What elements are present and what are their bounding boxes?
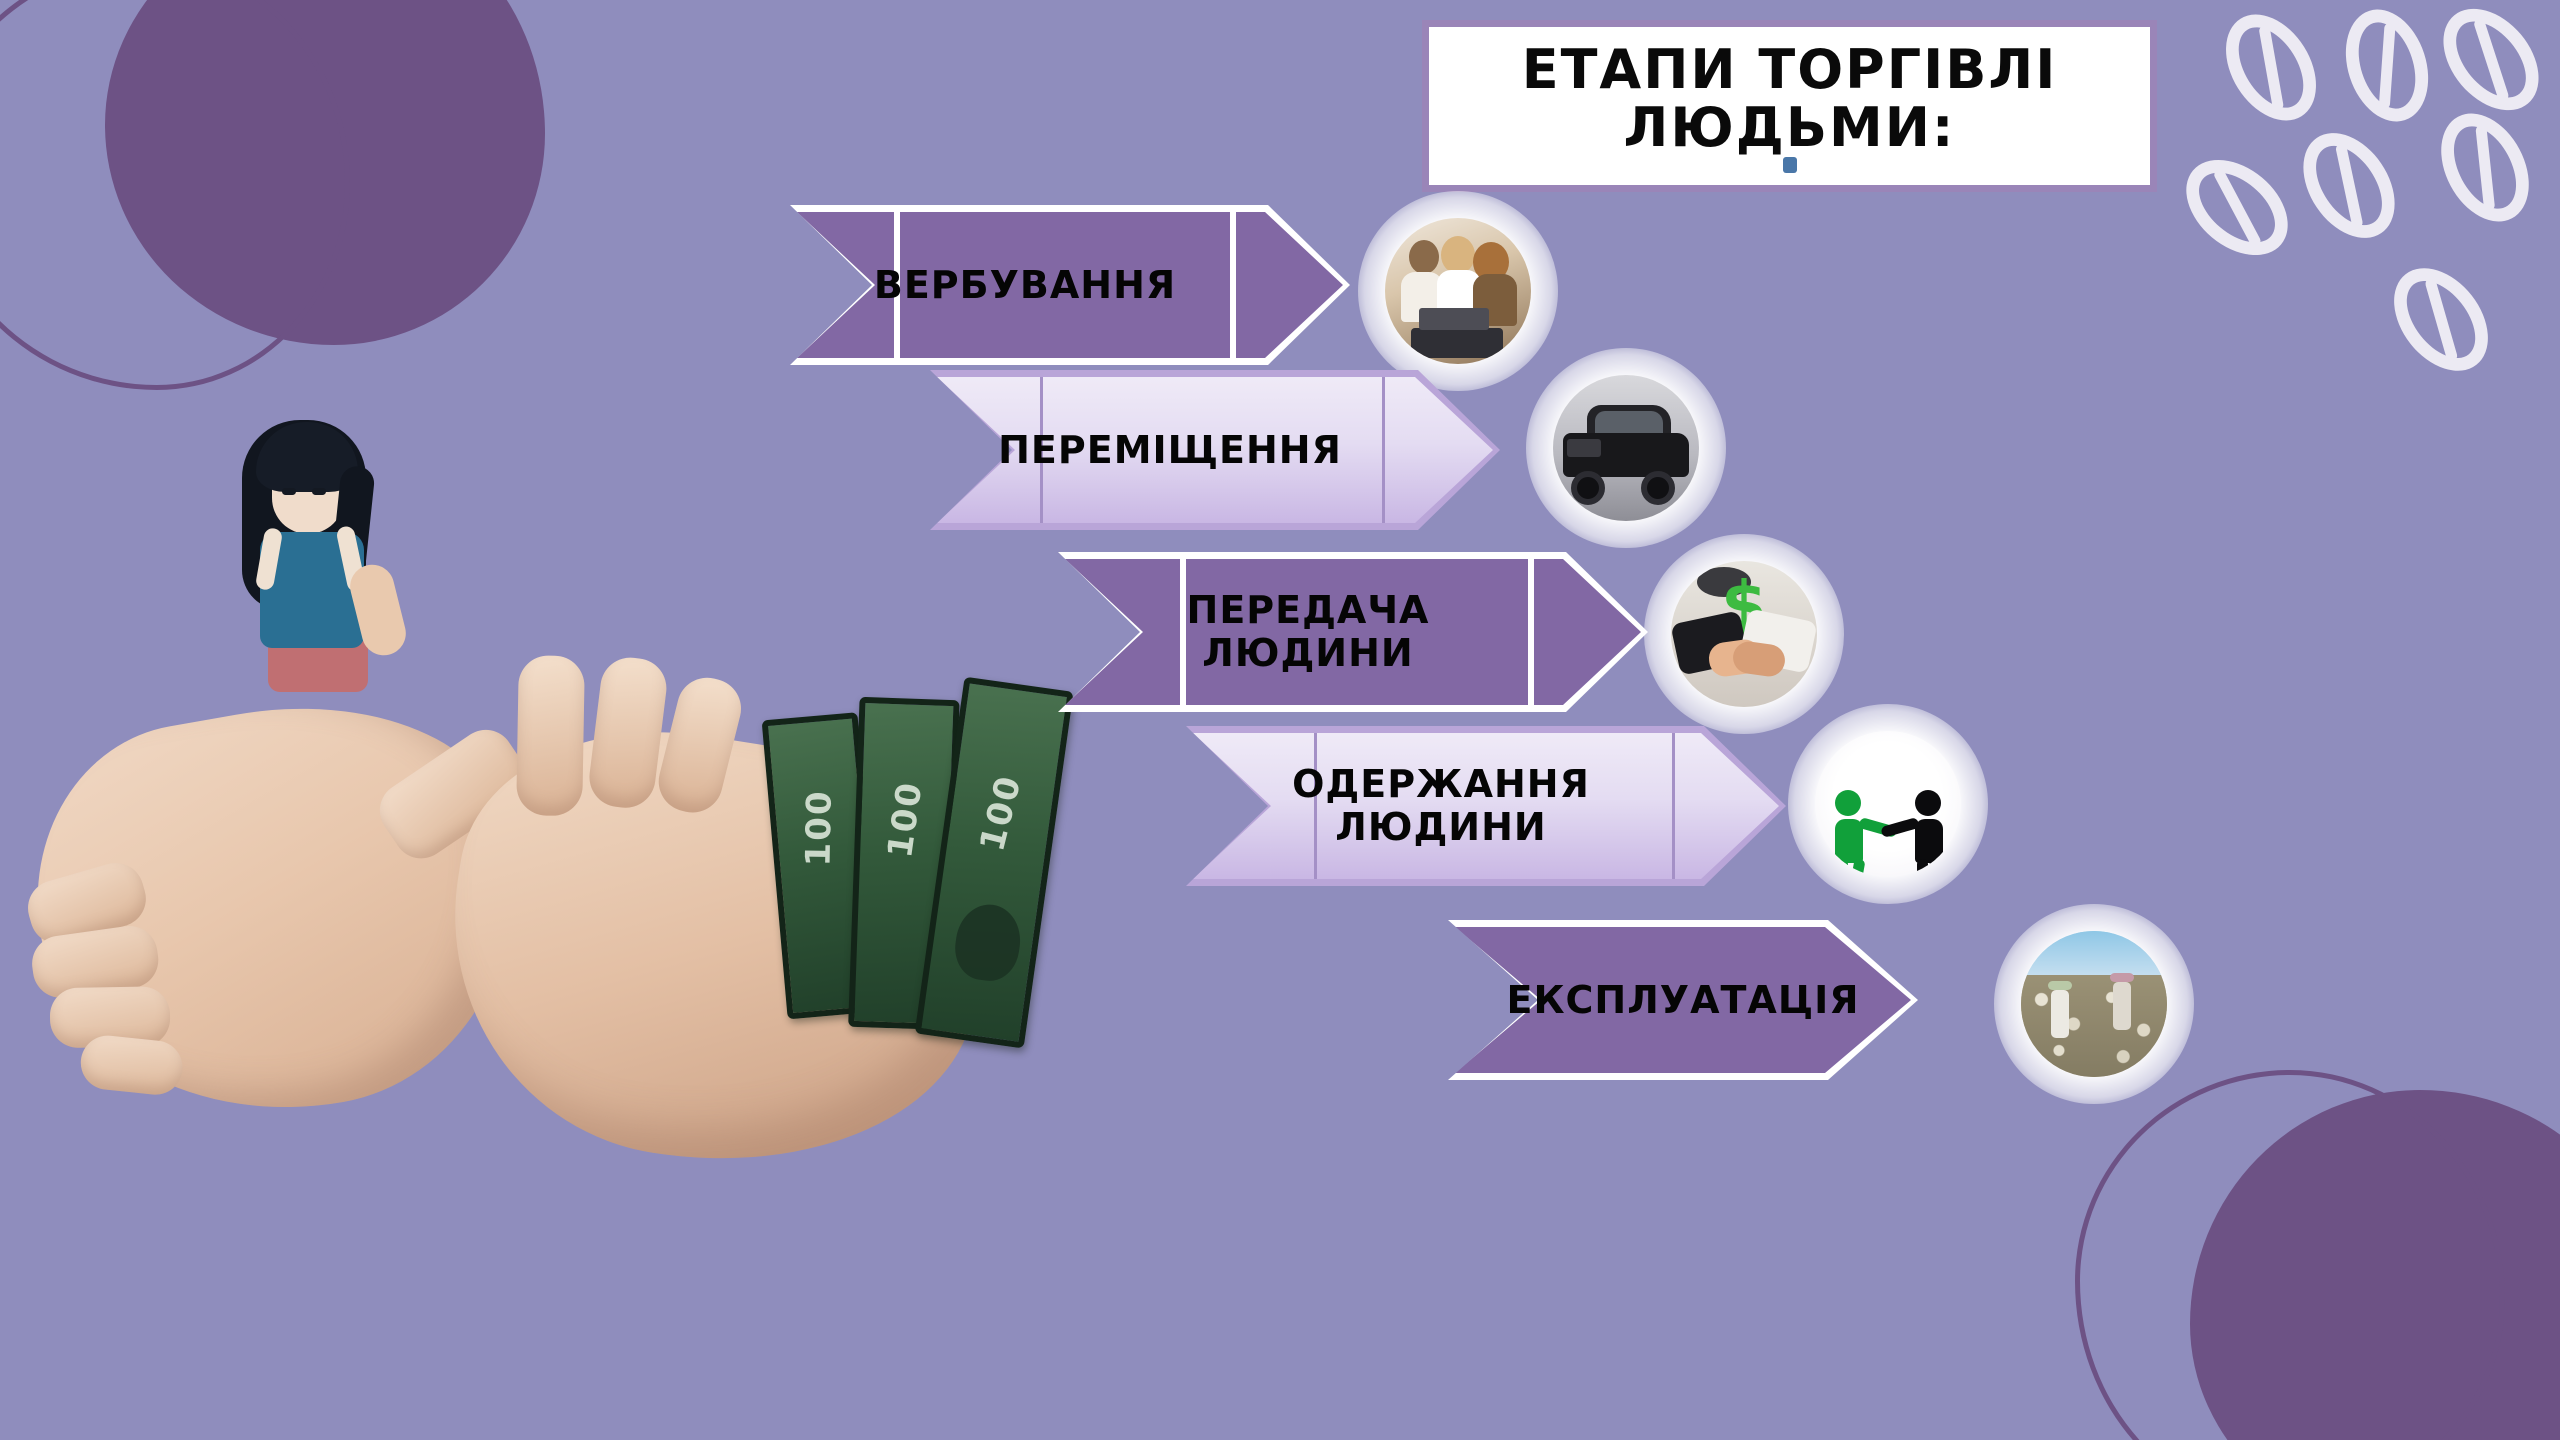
bean-doodle-icon [2375,250,2507,389]
green-person-silhouette [1835,790,1863,863]
process-step-1-label: ВЕРБУВАННЯ [790,205,1350,365]
handshake-money-photo-icon: $ Рукостискання з доларом [1658,548,1830,720]
bean-doodle-icon [2207,0,2334,137]
slide-canvas: ЕТАПИ ТОРГІВЛІ ЛЮДЬМИ: 100 100 100 [0,0,2560,1440]
bottom-right-outlined-blob-shape [2075,1070,2505,1440]
process-step-1[interactable]: ВЕРБУВАННЯ [790,205,1350,365]
banknote-value: 100 [880,779,930,861]
process-step-5[interactable]: ЕКСПЛУАТАЦІЯ [1448,920,1918,1080]
banknote-value: 100 [799,789,840,867]
bottom-right-filled-blob-shape [2190,1090,2560,1440]
top-left-filled-blob-shape [105,0,545,345]
car-photo-icon: Чорний позашляховик [1540,362,1712,534]
black-person-silhouette [1915,790,1943,863]
process-step-4[interactable]: ОДЕРЖАННЯ ЛЮДИНИ [1186,726,1786,886]
slide-title-box: ЕТАПИ ТОРГІВЛІ ЛЮДЬМИ: [1422,20,2157,192]
process-step-4-label: ОДЕРЖАННЯ ЛЮДИНИ [1186,726,1786,886]
field-workers-photo-icon: Працівники в полі [2008,918,2180,1090]
banknote-value: 100 [972,771,1029,855]
bean-doodle-icon [2424,0,2558,129]
process-step-3-label: ПЕРЕДАЧА ЛЮДИНИ [1058,552,1648,712]
hands-money-girl-illustration: 100 100 100 [20,460,1110,1250]
recruitment-photo-icon: Люди за ноутбуком [1372,205,1544,377]
seated-girl-figure [216,414,406,714]
process-step-2[interactable]: ПЕРЕМІЩЕННЯ [930,370,1500,530]
top-left-outlined-blob-shape [0,0,350,390]
bean-doodle-icon [2424,98,2547,236]
process-step-2-label: ПЕРЕМІЩЕННЯ [930,370,1500,530]
process-step-3[interactable]: ПЕРЕДАЧА ЛЮДИНИ [1058,552,1648,712]
bean-doodle-icon [2285,116,2414,255]
two-figures-handshake-icon: Зелена і чорна фігури [1802,718,1974,890]
bean-doodle-icon [2332,0,2442,132]
title-bullet-dot [1783,157,1797,173]
bean-doodle-icon [2168,141,2306,275]
process-step-5-label: ЕКСПЛУАТАЦІЯ [1448,920,1918,1080]
page-title: ЕТАПИ ТОРГІВЛІ ЛЮДЬМИ: [1522,41,2058,158]
